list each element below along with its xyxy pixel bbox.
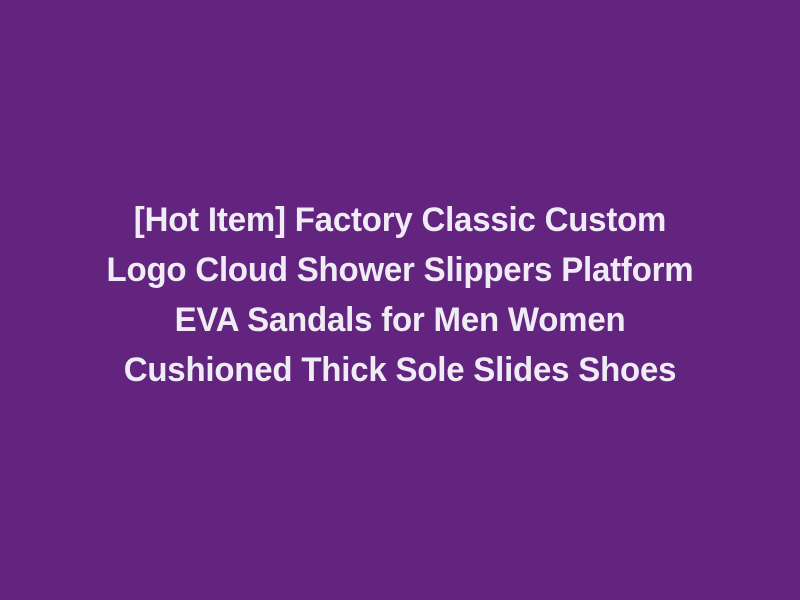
product-title: [Hot Item] Factory Classic Custom Logo C… [40,195,760,395]
title-line-4: Cushioned Thick Sole Slides Shoes [62,345,737,395]
title-line-3: EVA Sandals for Men Women [62,295,737,345]
title-line-2: Logo Cloud Shower Slippers Platform [62,245,737,295]
title-line-1: [Hot Item] Factory Classic Custom [62,195,737,245]
product-title-card: [Hot Item] Factory Classic Custom Logo C… [0,0,800,600]
